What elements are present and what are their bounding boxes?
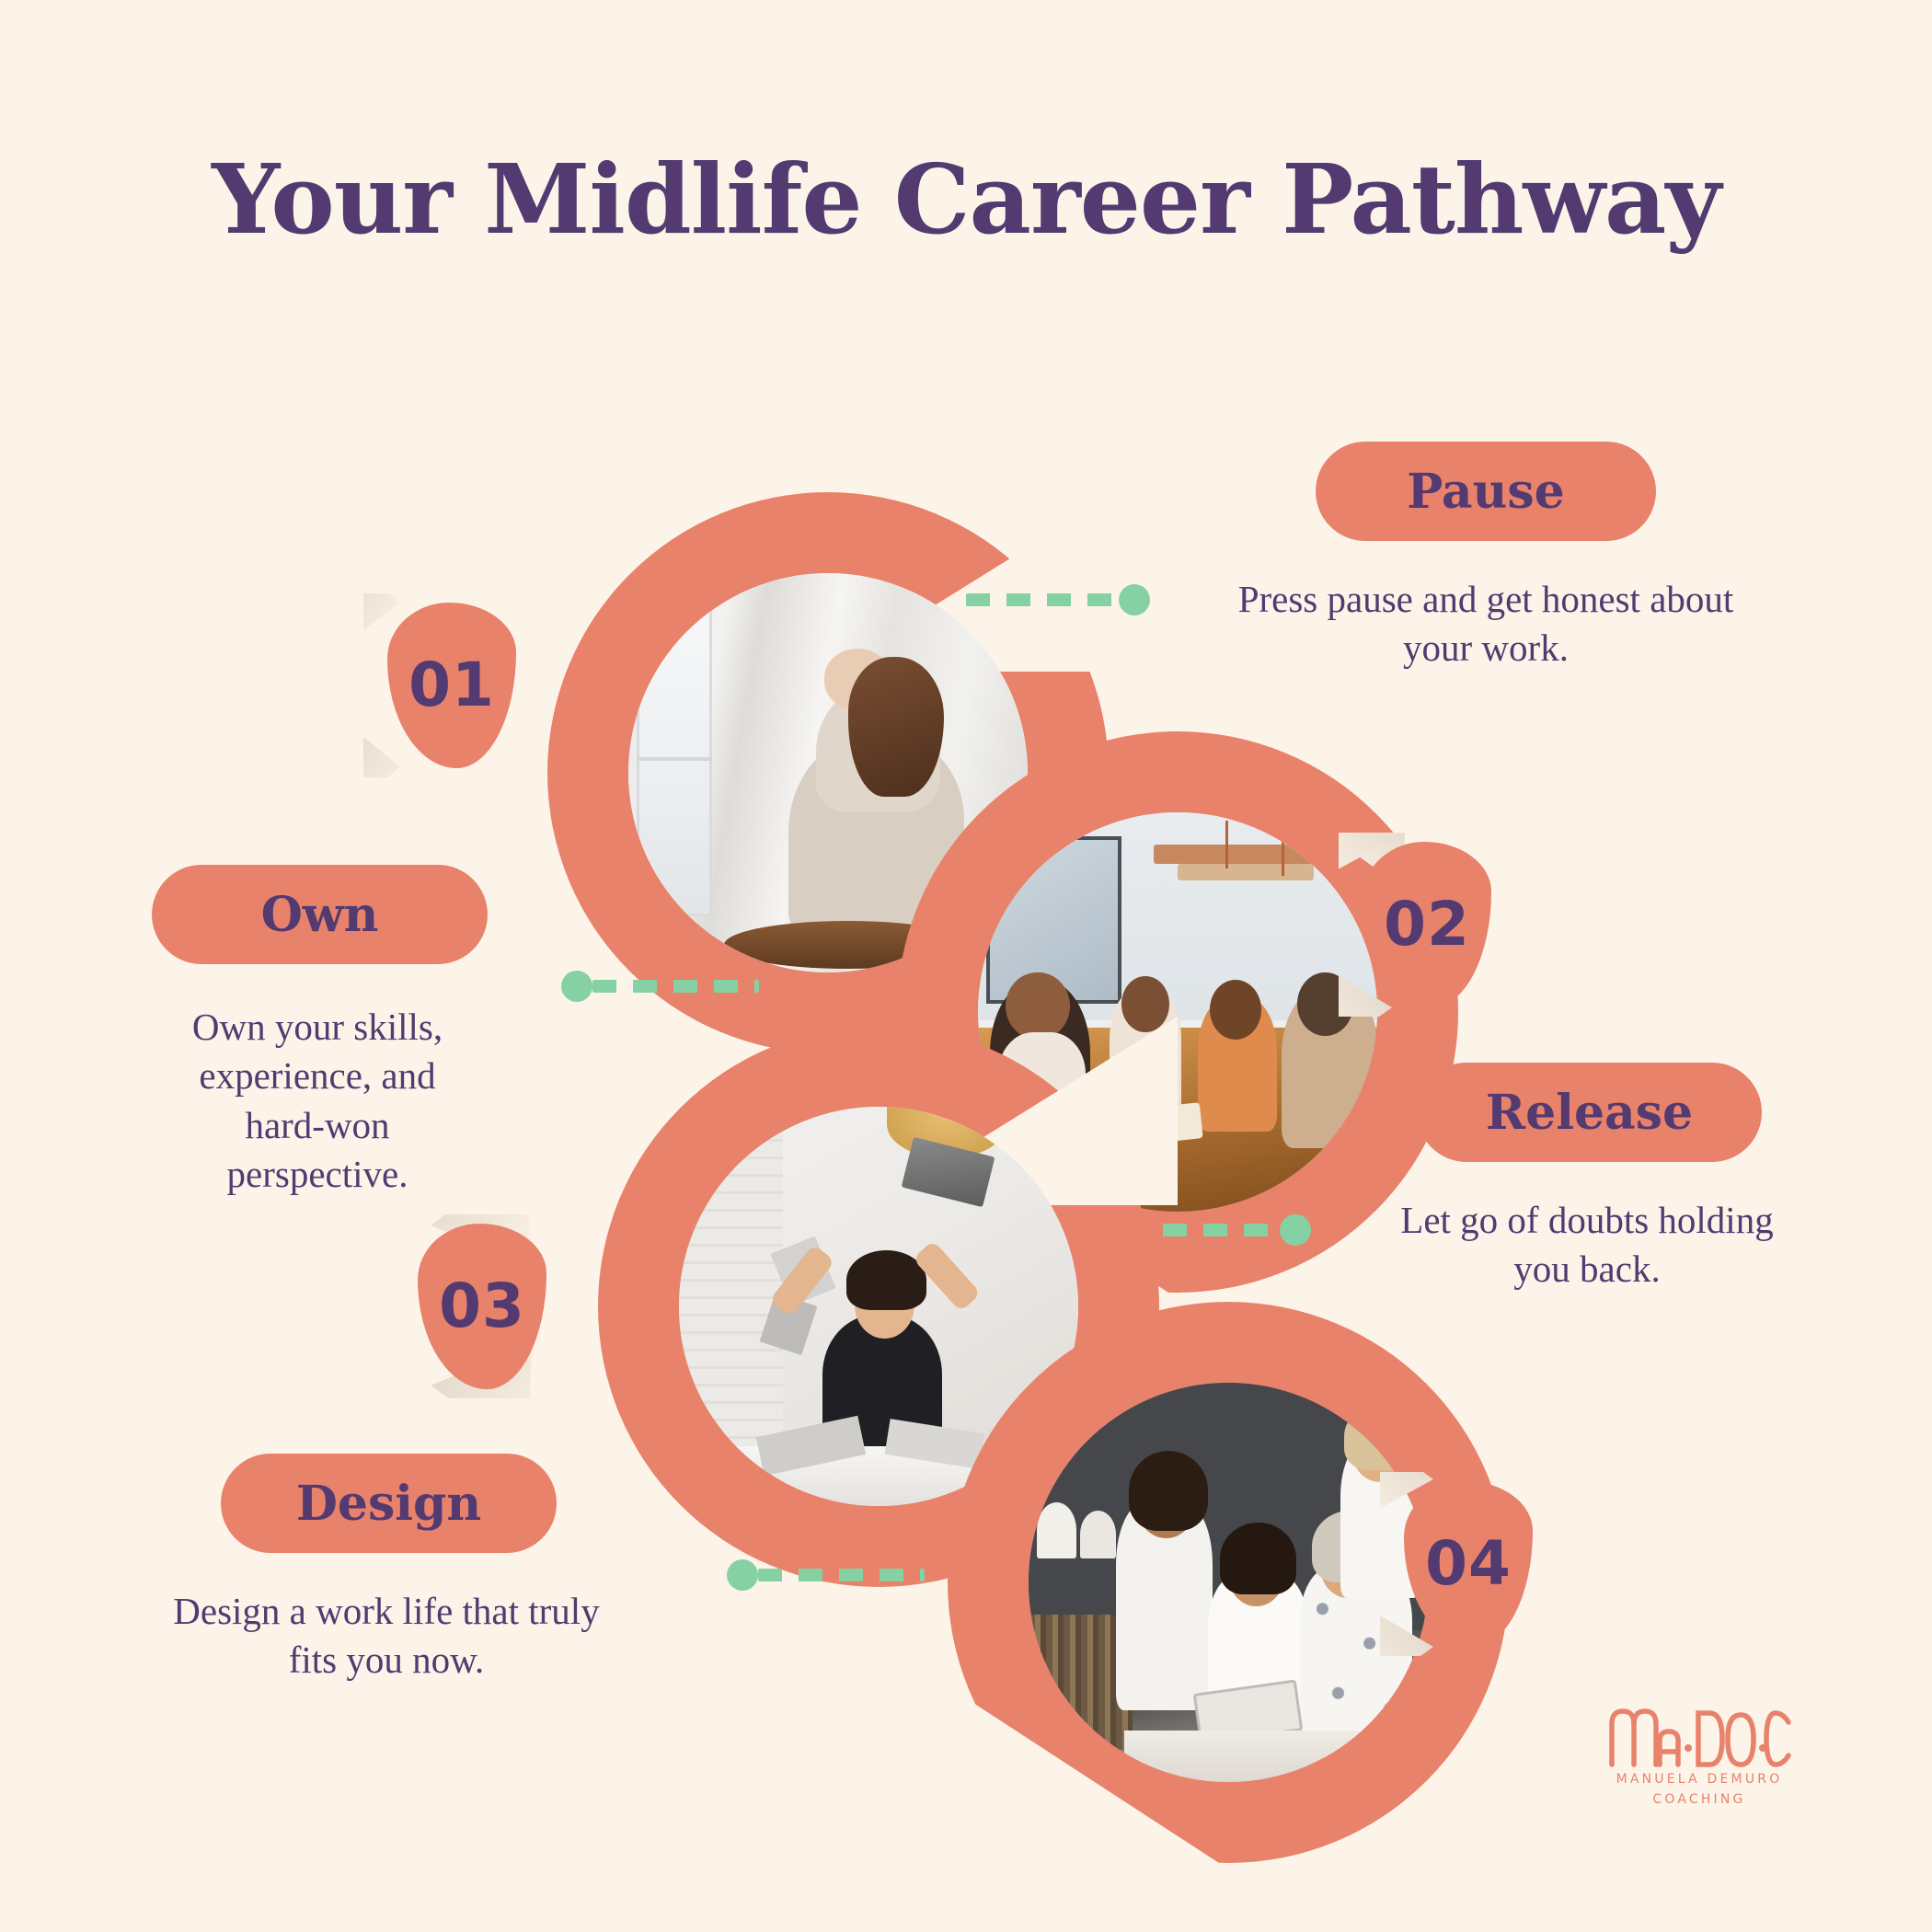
connector-dot-03: [561, 971, 592, 1002]
step-label-pause[interactable]: Pause: [1316, 442, 1656, 541]
step-description-design: Design a work life that truly fits you n…: [147, 1587, 626, 1685]
step-number-badge-02[interactable]: 02: [1339, 833, 1513, 1017]
step-label-text-own: Own: [261, 887, 379, 943]
page-title: Your Midlife Career Pathway: [0, 143, 1932, 256]
step-description-release: Let go of doubts holding you back.: [1389, 1196, 1785, 1294]
logo-line-1: MANUELA DEMURO: [1603, 1770, 1796, 1790]
step-number-badge-04[interactable]: 04: [1380, 1472, 1555, 1656]
connector-dash-04: [727, 1569, 925, 1581]
connector-dash-03: [561, 980, 759, 993]
badge-number-02: 02: [1384, 894, 1470, 955]
brand-logo: MANUELA DEMURO COACHING: [1603, 1704, 1796, 1810]
step-label-design[interactable]: Design: [221, 1454, 557, 1553]
step-number-badge-03[interactable]: 03: [394, 1214, 569, 1398]
connector-line-01: [966, 593, 1119, 606]
connector-dash-02: [1122, 1224, 1311, 1236]
step-label-text-pause: Pause: [1407, 464, 1565, 520]
step-photo-04: [1029, 1383, 1428, 1782]
photo-art-04: [1029, 1383, 1428, 1782]
connector-dash-01: [966, 593, 1150, 606]
step-label-own[interactable]: Own: [152, 865, 488, 964]
step-label-text-design: Design: [296, 1476, 481, 1532]
badge-number-03: 03: [439, 1276, 525, 1337]
madoc-monogram-icon: [1603, 1704, 1796, 1770]
connector-line-03: [592, 980, 759, 993]
badge-number-04: 04: [1425, 1534, 1512, 1594]
step-description-own: Own your skills, experience, and hard-wo…: [161, 1003, 474, 1199]
connector-dot-04: [727, 1559, 758, 1591]
connector-dot-02: [1280, 1214, 1311, 1246]
step-description-pause: Press pause and get honest about your wo…: [1237, 575, 1734, 673]
connector-line-04: [758, 1569, 925, 1581]
step-label-text-release: Release: [1486, 1085, 1693, 1141]
infographic-canvas: Your Midlife Career Pathway: [0, 0, 1932, 1932]
step-label-release[interactable]: Release: [1417, 1063, 1762, 1162]
badge-number-01: 01: [408, 655, 495, 716]
step-number-badge-01[interactable]: 01: [363, 593, 538, 777]
logo-line-2: COACHING: [1603, 1790, 1796, 1811]
connector-dot-01: [1119, 584, 1150, 615]
